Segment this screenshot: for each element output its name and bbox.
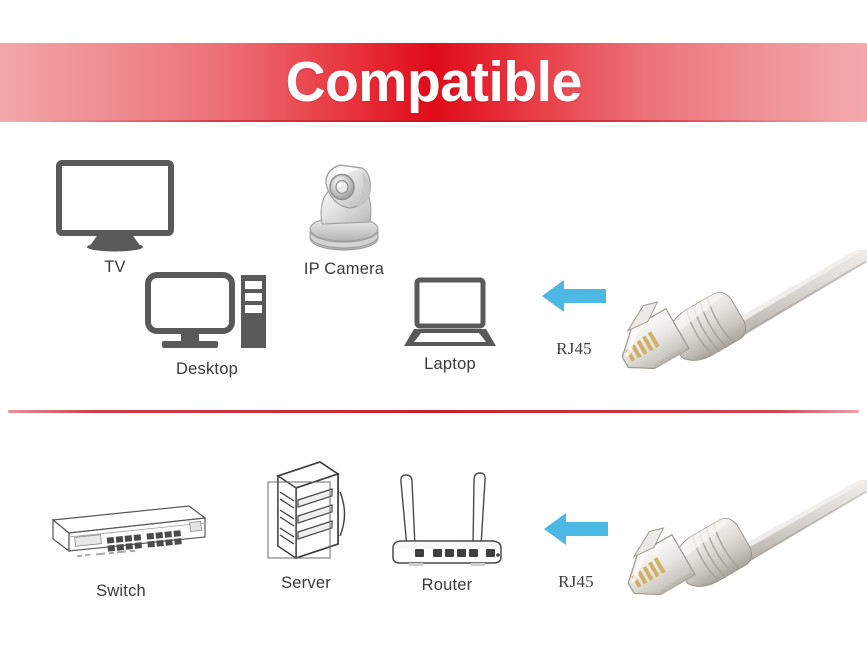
device-label: Laptop bbox=[424, 355, 476, 374]
wireless-router-icon bbox=[385, 460, 509, 568]
connector-rj45-top: RJ45 bbox=[520, 275, 628, 359]
device-label: Desktop bbox=[176, 360, 238, 379]
header-banner: Compatible bbox=[0, 43, 867, 122]
device-server: Server bbox=[256, 452, 356, 593]
ip-camera-icon bbox=[292, 158, 396, 254]
arrow-left-icon bbox=[540, 275, 608, 317]
connector-rj45-bottom: RJ45 bbox=[522, 508, 630, 592]
section-divider bbox=[8, 410, 859, 413]
desktop-computer-icon bbox=[145, 272, 269, 354]
device-label: IP Camera bbox=[304, 260, 384, 279]
rj45-cable-top bbox=[624, 248, 867, 380]
device-label: Server bbox=[281, 574, 331, 593]
device-switch: Switch bbox=[28, 498, 214, 601]
device-label: Switch bbox=[96, 582, 146, 601]
device-tv: TV bbox=[48, 160, 182, 277]
connector-label: RJ45 bbox=[558, 572, 594, 592]
television-icon bbox=[55, 160, 175, 252]
network-switch-icon bbox=[33, 498, 209, 568]
infographic-canvas: Compatible TV bbox=[0, 0, 867, 650]
device-router: Router bbox=[382, 460, 512, 595]
server-rack-icon bbox=[260, 452, 352, 564]
connector-label: RJ45 bbox=[556, 339, 592, 359]
rj45-cable-bottom bbox=[624, 462, 867, 594]
device-desktop: Desktop bbox=[140, 272, 274, 379]
device-laptop: Laptop bbox=[396, 277, 504, 374]
device-label: TV bbox=[104, 258, 125, 277]
device-ip-camera: IP Camera bbox=[284, 158, 404, 279]
page-title: Compatible bbox=[285, 54, 581, 111]
arrow-left-icon bbox=[542, 508, 610, 550]
device-label: Router bbox=[422, 576, 473, 595]
laptop-icon bbox=[404, 277, 496, 349]
